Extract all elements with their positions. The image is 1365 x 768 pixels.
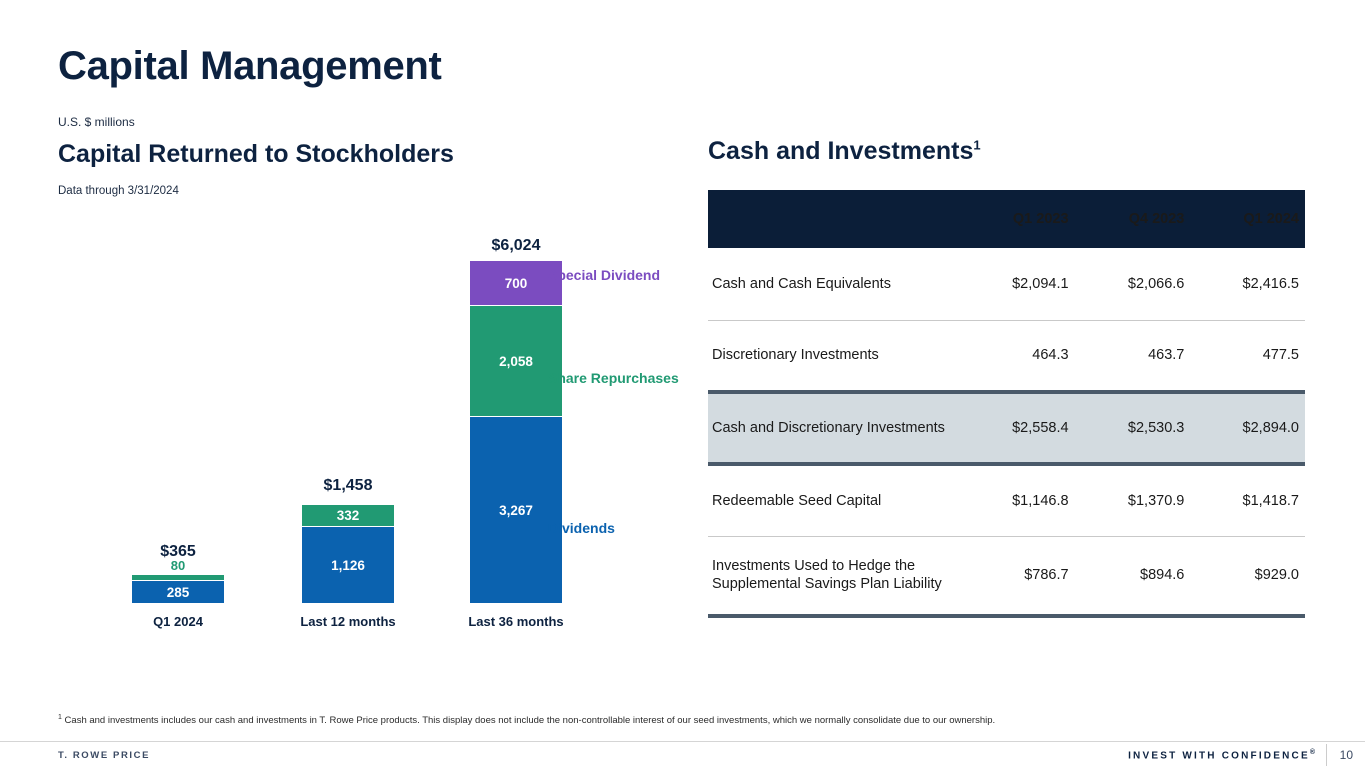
right-panel-heading-superscript: 1 (973, 138, 980, 153)
slide-canvas: Capital Management U.S. $ millions Capit… (0, 0, 1365, 768)
bar-segment-value: 700 (505, 276, 528, 291)
table-row: Discretionary Investments 464.3 463.7 47… (708, 320, 1305, 392)
table-header-cell-label (708, 190, 959, 248)
bar-stack: 332 1,126 (302, 505, 394, 603)
bar-segment-value: 3,267 (499, 503, 533, 518)
table-cell-value: $2,558.4 (959, 392, 1075, 464)
bar-segment-value: 2,058 (499, 354, 533, 369)
table-row: Cash and Cash Equivalents $2,094.1 $2,06… (708, 248, 1305, 320)
bar-category-label: Q1 2024 (110, 614, 246, 629)
footer-tagline-text: INVEST WITH CONFIDENCE (1128, 750, 1310, 761)
table-cell-value: $2,416.5 (1190, 248, 1305, 320)
registered-trademark-icon: ® (1310, 749, 1315, 756)
bar-segment-share-repurchases: 2,058 (470, 306, 562, 417)
bar-total-label: $6,024 (448, 237, 584, 255)
data-through-label: Data through 3/31/2024 (58, 185, 179, 197)
bar-group-q1-2024: $365 80 285 Q1 2024 (110, 225, 260, 635)
bar-segment-value: 285 (167, 585, 190, 600)
table-cell-value: $786.7 (959, 536, 1075, 616)
legend-item-dividends: Dividends (548, 520, 688, 538)
bar-stack: 80 285 (132, 575, 224, 603)
footnote-marker: 1 (58, 714, 62, 721)
table-cell-value: 464.3 (959, 320, 1075, 392)
right-panel-heading-text: Cash and Investments (708, 137, 973, 165)
table-row: Redeemable Seed Capital $1,146.8 $1,370.… (708, 464, 1305, 536)
footer-divider-rule (0, 741, 1365, 742)
bar-segment-dividends: 3,267 (470, 417, 562, 603)
footnote: 1 Cash and investments includes our cash… (58, 714, 995, 726)
bar-segment-dividends: 1,126 (302, 527, 394, 603)
table-cell-value: 477.5 (1190, 320, 1305, 392)
cash-and-investments-table: Q1 2023 Q4 2023 Q1 2024 Cash and Cash Eq… (708, 190, 1305, 618)
page-title: Capital Management (58, 44, 442, 89)
capital-returned-bar-chart: $365 80 285 Q1 2024 $1,458 332 1,126 (58, 225, 688, 635)
table-header-cell-q1-2023: Q1 2023 (959, 190, 1075, 248)
legend-item-special-dividend: Special Dividend (548, 267, 688, 285)
table-header-cell-q1-2024: Q1 2024 (1190, 190, 1305, 248)
table-cell-label: Cash and Cash Equivalents (708, 248, 959, 320)
table-header-cell-q4-2023: Q4 2023 (1075, 190, 1191, 248)
table-row: Investments Used to Hedge the Supplement… (708, 536, 1305, 616)
table-cell-value: $2,530.3 (1075, 392, 1191, 464)
table-cell-value: $1,146.8 (959, 464, 1075, 536)
bar-category-label: Last 12 months (280, 614, 416, 629)
table-cell-value: $1,370.9 (1075, 464, 1191, 536)
bar-segment-value: 80 (132, 558, 224, 573)
footer-tagline: INVEST WITH CONFIDENCE® (1128, 749, 1315, 761)
table-cell-value: $2,094.1 (959, 248, 1075, 320)
bar-group-last-36-months: $6,024 700 2,058 3,267 Last 36 months (448, 225, 598, 635)
bar-stack: 700 2,058 3,267 (470, 261, 562, 603)
table-cell-value: $929.0 (1190, 536, 1305, 616)
table-cell-label: Cash and Discretionary Investments (708, 392, 959, 464)
table-row-highlighted: Cash and Discretionary Investments $2,55… (708, 392, 1305, 464)
right-panel-heading: Cash and Investments1 (708, 137, 981, 166)
bar-segment-value: 332 (337, 508, 360, 523)
footer-brand: T. ROWE PRICE (58, 750, 150, 761)
table-header-row: Q1 2023 Q4 2023 Q1 2024 (708, 190, 1305, 248)
table-header: Q1 2023 Q4 2023 Q1 2024 (708, 190, 1305, 248)
legend-item-share-repurchases: Share Repurchases (548, 370, 688, 388)
units-label: U.S. $ millions (58, 115, 135, 129)
bar-segment-value: 1,126 (331, 558, 365, 573)
table-cell-value: $2,066.6 (1075, 248, 1191, 320)
table-cell-value: $2,894.0 (1190, 392, 1305, 464)
table-body: Cash and Cash Equivalents $2,094.1 $2,06… (708, 248, 1305, 616)
table-cell-value: 463.7 (1075, 320, 1191, 392)
table-cell-value: $894.6 (1075, 536, 1191, 616)
footnote-text: Cash and investments includes our cash a… (65, 715, 996, 726)
bar-total-label: $1,458 (280, 477, 416, 495)
footer-vertical-divider (1326, 744, 1327, 766)
table-cell-label: Investments Used to Hedge the Supplement… (708, 536, 959, 616)
table-cell-label: Discretionary Investments (708, 320, 959, 392)
bar-group-last-12-months: $1,458 332 1,126 Last 12 months (280, 225, 430, 635)
bar-segment-dividends: 285 (132, 581, 224, 603)
page-number: 10 (1340, 748, 1353, 762)
bar-category-label: Last 36 months (448, 614, 584, 629)
table-cell-label: Redeemable Seed Capital (708, 464, 959, 536)
left-panel-heading: Capital Returned to Stockholders (58, 140, 454, 169)
table-cell-value: $1,418.7 (1190, 464, 1305, 536)
bar-segment-share-repurchases: 332 (302, 505, 394, 527)
